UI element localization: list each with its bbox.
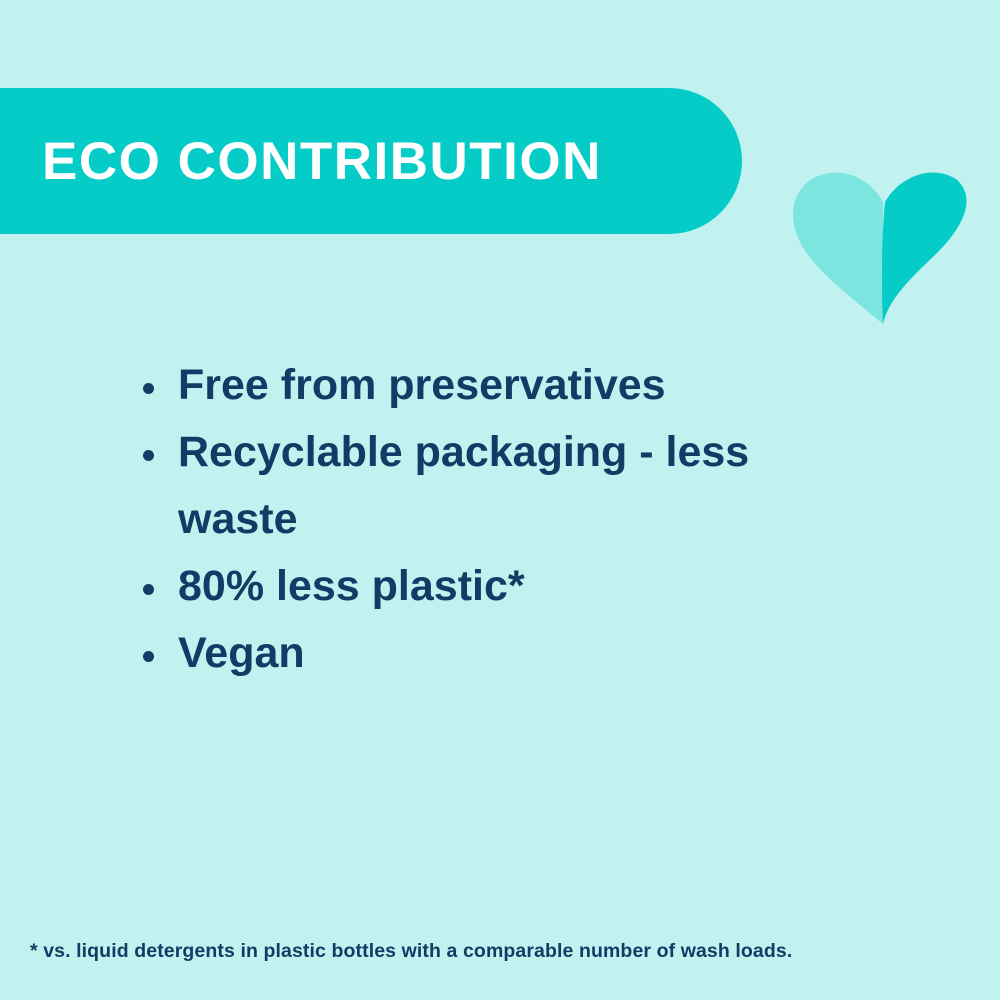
benefit-label: Vegan <box>178 629 305 677</box>
benefit-label: Free from preservatives <box>178 361 666 409</box>
benefit-label: 80% less plastic* <box>178 562 525 610</box>
list-item: Free from preservatives <box>140 352 878 419</box>
header-row: ECO CONTRIBUTION <box>0 88 1000 234</box>
list-item: Vegan <box>140 620 878 687</box>
list-item: Recyclable packaging - less waste <box>140 419 878 553</box>
page-title: ECO CONTRIBUTION <box>42 135 602 188</box>
header-banner: ECO CONTRIBUTION <box>0 88 742 234</box>
list-item: 80% less plastic* <box>140 553 878 620</box>
benefits-list: Free from preservatives Recyclable packa… <box>140 352 940 687</box>
heart-icon <box>790 170 976 324</box>
benefit-label: Recyclable packaging - less waste <box>178 428 749 543</box>
eco-contribution-panel: ECO CONTRIBUTION Free from preservatives… <box>0 0 1000 1000</box>
footnote: * vs. liquid detergents in plastic bottl… <box>30 938 970 964</box>
